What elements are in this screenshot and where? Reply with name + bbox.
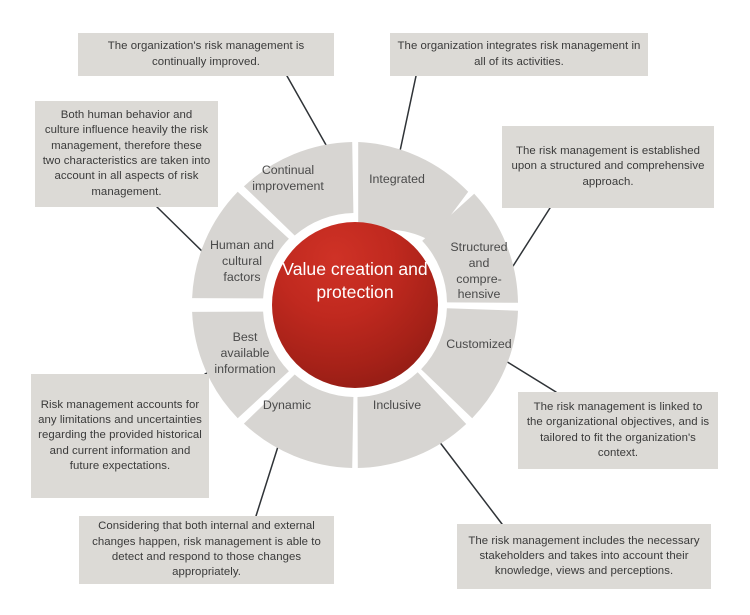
callout-text: The organization's risk management is co…	[85, 39, 327, 70]
callout-human-cultural: Both human behavior and culture influenc…	[35, 101, 218, 207]
connector-integrated	[400, 76, 416, 151]
callout-best-available: Risk management accounts for any limitat…	[31, 374, 209, 498]
callout-text: The risk management includes the necessa…	[464, 534, 704, 580]
connector-continual-improvement	[287, 76, 330, 152]
connector-structured	[508, 208, 550, 274]
callout-customized: The risk management is linked to the org…	[518, 392, 718, 469]
callout-text: Risk management accounts for any limitat…	[38, 398, 202, 474]
callout-structured: The risk management is established upon …	[502, 126, 714, 208]
callout-text: The organization integrates risk managem…	[397, 39, 641, 70]
callout-dynamic: Considering that both internal and exter…	[79, 516, 334, 584]
callout-text: Both human behavior and culture influenc…	[42, 108, 211, 200]
callout-integrated: The organization integrates risk managem…	[390, 33, 648, 76]
connector-inclusive	[432, 432, 502, 524]
connector-human-cultural	[157, 207, 208, 257]
callout-text: Considering that both internal and exter…	[86, 519, 327, 580]
callout-text: The risk management is linked to the org…	[525, 400, 711, 461]
connector-dynamic	[256, 437, 281, 516]
callout-continual-improvement: The organization's risk management is co…	[78, 33, 334, 76]
diagram-canvas: Value creation and protection Continual …	[0, 0, 750, 615]
callout-text: The risk management is established upon …	[509, 144, 707, 190]
core-circle[interactable]	[272, 222, 438, 388]
callout-inclusive: The risk management includes the necessa…	[457, 524, 711, 589]
